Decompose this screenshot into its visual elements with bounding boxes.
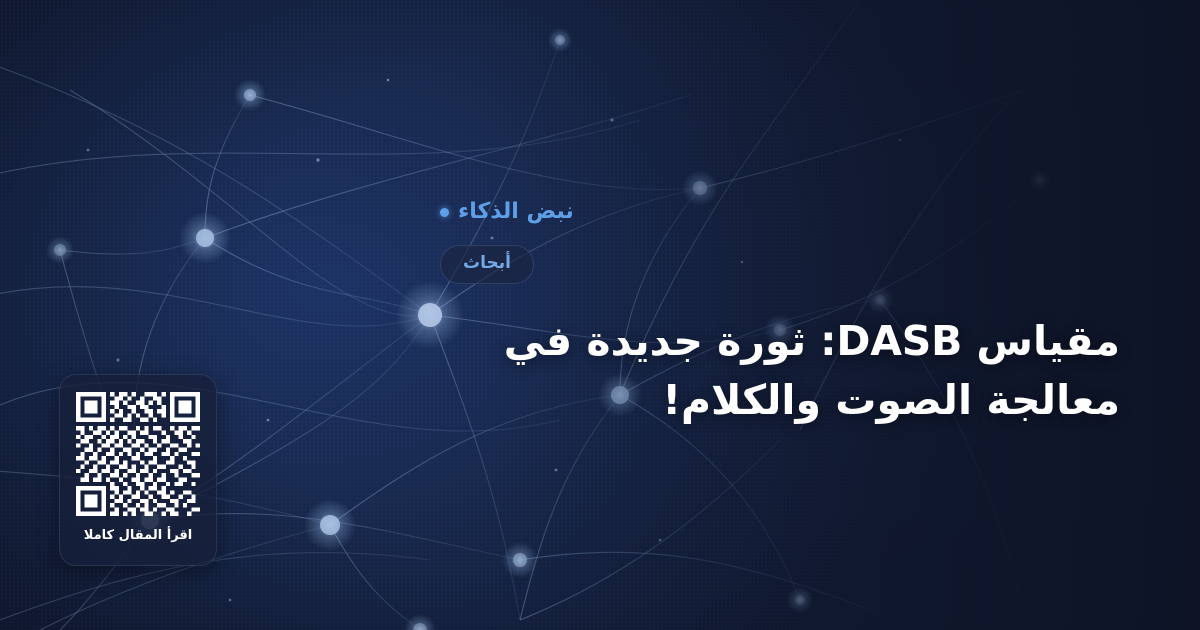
og-card: اقرأ المقال كاملا نبض الذكاء أبحاث مقياس… xyxy=(0,0,1200,630)
qr-code-icon[interactable] xyxy=(76,392,200,516)
content-column: نبض الذكاء أبحاث مقياس DASB: ثورة جديدة … xyxy=(440,0,1200,630)
page-title: مقياس DASB: ثورة جديدة في معالجة الصوت و… xyxy=(440,312,1120,428)
category-badge[interactable]: أبحاث xyxy=(440,245,534,284)
qr-card[interactable]: اقرأ المقال كاملا xyxy=(59,374,217,566)
brand-dot-icon xyxy=(440,208,449,217)
qr-card-label: اقرأ المقال كاملا xyxy=(84,529,193,542)
brand-name: نبض الذكاء xyxy=(458,201,574,223)
brand: نبض الذكاء xyxy=(440,201,574,223)
